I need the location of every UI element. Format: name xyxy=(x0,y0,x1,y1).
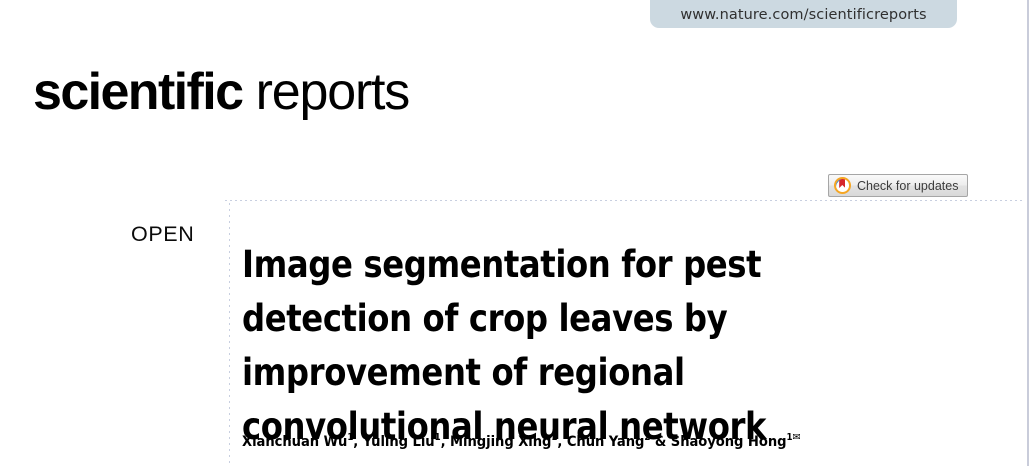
journal-url-banner: www.nature.com/scientificreports xyxy=(650,0,957,28)
corresponding-author-email-icon[interactable]: ✉ xyxy=(792,432,800,443)
page-right-border xyxy=(1027,0,1029,466)
article-author-list: Xianchuan Wu1, Yuling Liu1, Mingjing Xin… xyxy=(242,433,800,450)
author-separator: , xyxy=(441,433,450,450)
check-for-updates-icon xyxy=(834,177,851,194)
article-title: Image segmentation for pestdetection of … xyxy=(242,238,824,454)
journal-url-text: www.nature.com/scientificreports xyxy=(650,7,957,23)
author-name: Xianchuan Wu xyxy=(242,433,347,450)
author-name: Chun Yang xyxy=(567,433,645,450)
check-for-updates-label: Check for updates xyxy=(857,179,958,193)
author-name: Mingjing Xing xyxy=(450,433,551,450)
author-name: Yuling Liu xyxy=(363,433,435,450)
horizontal-dotted-divider xyxy=(225,200,1025,201)
open-access-label: OPEN xyxy=(131,222,194,247)
article-title-line-2: detection of crop leaves by xyxy=(242,292,824,346)
check-for-updates-button[interactable]: Check for updates xyxy=(828,174,968,197)
author-name: Shaoyong Hong xyxy=(671,433,787,450)
article-title-line-3: improvement of regional xyxy=(242,346,824,400)
author-separator: , xyxy=(353,433,362,450)
article-title-line-1: Image segmentation for pest xyxy=(242,238,824,292)
journal-masthead-logo: scientific reports xyxy=(33,66,409,118)
author-separator: , xyxy=(557,433,566,450)
vertical-dotted-divider xyxy=(229,203,230,466)
author-separator: & xyxy=(650,433,670,450)
journal-article-page: www.nature.com/scientificreports scienti… xyxy=(0,0,1031,466)
masthead-word-scientific: scientific xyxy=(33,63,242,121)
masthead-word-reports: reports xyxy=(242,63,409,121)
